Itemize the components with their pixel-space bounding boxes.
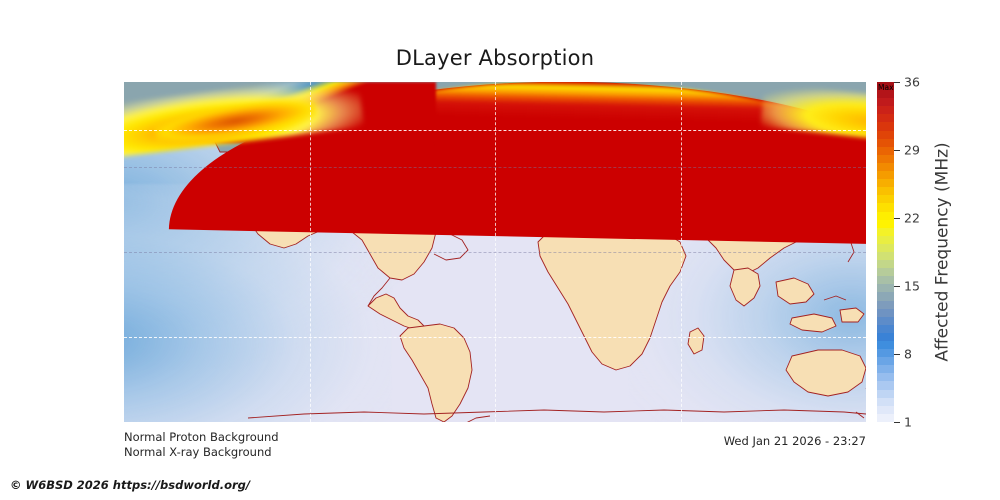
colorbar-swatch-32 (877, 341, 894, 349)
colorbar-ticklabel-8: 8 (904, 347, 912, 362)
colorbar-swatch-29 (877, 317, 894, 325)
colorbar-swatch-4 (877, 114, 894, 122)
colorbar-ticklabel-15: 15 (904, 279, 920, 294)
colorbar-ticklabel-22: 22 (904, 211, 920, 226)
colorbar-ticklabel-36: 36 (904, 75, 920, 90)
colorbar-swatch-36 (877, 373, 894, 381)
colorbar-swatch-6 (877, 131, 894, 139)
colorbar-swatch-31 (877, 333, 894, 341)
colorbar-swatch-28 (877, 309, 894, 317)
colorbar-swatch-33 (877, 349, 894, 357)
colorbar-swatch-20 (877, 244, 894, 252)
colorbar-swatch-35 (877, 365, 894, 373)
map-axes[interactable] (124, 82, 866, 422)
colorbar-ticklabel-29: 29 (904, 143, 920, 158)
colorbar-swatch-25 (877, 284, 894, 292)
colorbar-max-label: Max (878, 83, 894, 92)
colorbar-tick-29 (894, 150, 900, 151)
colorbar-swatch-26 (877, 292, 894, 300)
colorbar-swatch-7 (877, 139, 894, 147)
colorbar-swatch-16 (877, 212, 894, 220)
colorbar-swatch-40 (877, 406, 894, 414)
colorbar-swatch-21 (877, 252, 894, 260)
colorbar-swatch-8 (877, 147, 894, 155)
gridline-lat-66n (124, 130, 866, 131)
colorbar-swatch-9 (877, 155, 894, 163)
colorbar[interactable]: Max (877, 82, 894, 422)
xray-background-note: Normal X-ray Background (124, 445, 272, 459)
page-title: DLayer Absorption (124, 46, 866, 70)
colorbar-swatch-17 (877, 220, 894, 228)
gridline-lat-45s (124, 337, 866, 338)
gridline-lat-45n (124, 167, 866, 168)
gridline-lat-0 (124, 252, 866, 253)
colorbar-swatch-41 (877, 414, 894, 422)
proton-background-note: Normal Proton Background (124, 430, 279, 444)
colorbar-tick-36 (894, 82, 900, 83)
colorbar-swatch-14 (877, 195, 894, 203)
colorbar-swatch-13 (877, 187, 894, 195)
colorbar-tick-22 (894, 218, 900, 219)
colorbar-swatch-2 (877, 98, 894, 106)
colorbar-swatch-27 (877, 301, 894, 309)
colorbar-swatch-19 (877, 236, 894, 244)
colorbar-tick-8 (894, 354, 900, 355)
colorbar-swatch-34 (877, 357, 894, 365)
colorbar-swatch-23 (877, 268, 894, 276)
colorbar-swatch-11 (877, 171, 894, 179)
colorbar-swatch-15 (877, 203, 894, 211)
colorbar-tick-1 (894, 422, 900, 423)
colorbar-tick-15 (894, 286, 900, 287)
colorbar-ticklabel-1: 1 (904, 415, 912, 430)
colorbar-swatch-22 (877, 260, 894, 268)
timestamp-label: Wed Jan 21 2026 - 23:27 (560, 434, 866, 448)
figure-canvas: DLayer Absorption (0, 0, 1000, 500)
colorbar-title: Affected Frequency (MHz) (930, 82, 956, 422)
colorbar-swatch-3 (877, 106, 894, 114)
copyright-label: © W6BSD 2026 https://bsdworld.org/ (10, 478, 250, 492)
colorbar-swatch-30 (877, 325, 894, 333)
colorbar-swatch-24 (877, 276, 894, 284)
colorbar-swatch-38 (877, 390, 894, 398)
colorbar-gradient (877, 82, 894, 422)
colorbar-swatch-10 (877, 163, 894, 171)
colorbar-swatch-5 (877, 122, 894, 130)
colorbar-swatch-39 (877, 398, 894, 406)
colorbar-swatch-12 (877, 179, 894, 187)
colorbar-swatch-37 (877, 381, 894, 389)
colorbar-swatch-18 (877, 228, 894, 236)
